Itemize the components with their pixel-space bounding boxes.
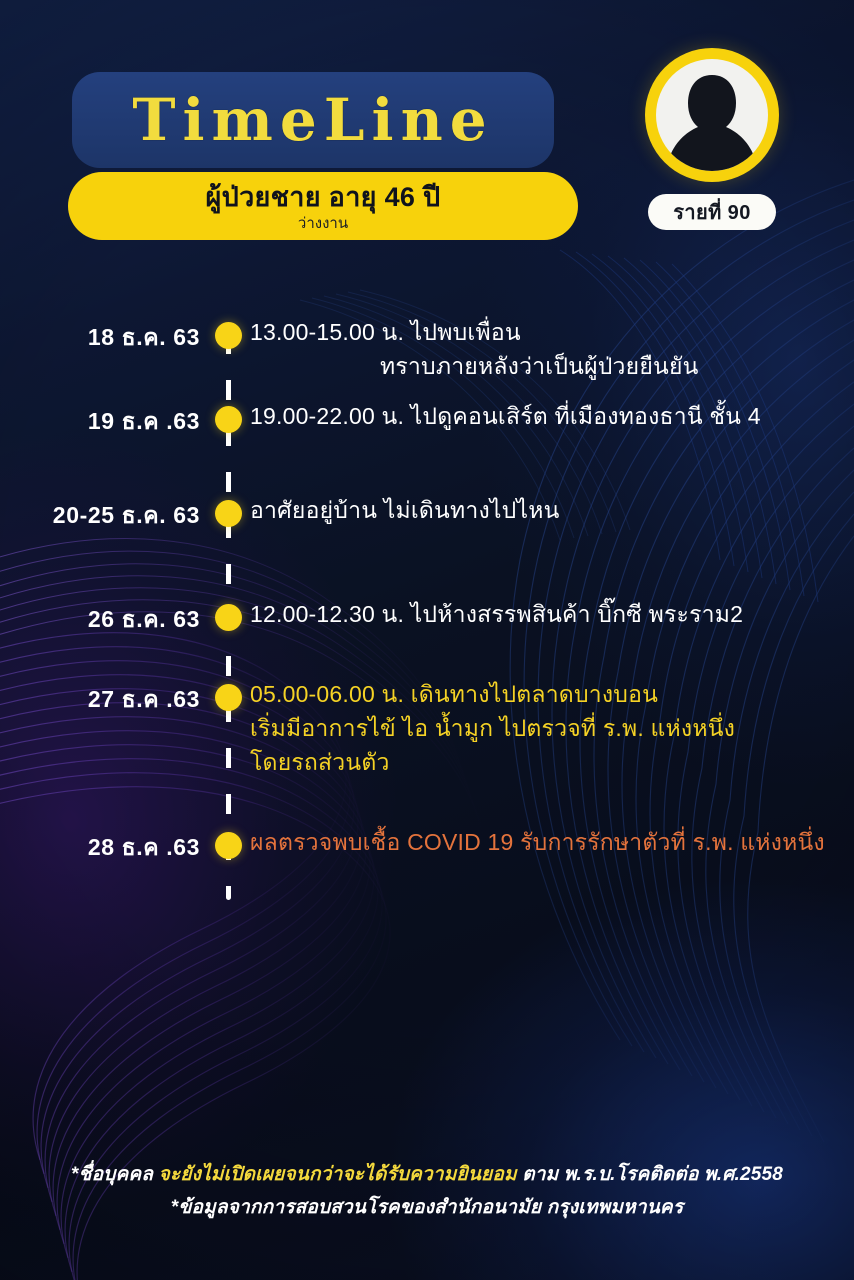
timeline-dot bbox=[215, 832, 242, 859]
timeline-dot bbox=[215, 500, 242, 527]
timeline-dot bbox=[215, 684, 242, 711]
timeline-entry-line: ทราบภายหลังว่าเป็นผู้ป่วยยืนยัน bbox=[250, 349, 850, 383]
timeline-dot bbox=[215, 322, 242, 349]
timeline-entry-date: 26 ธ.ค. 63 bbox=[0, 602, 200, 638]
case-number-text: รายที่ 90 bbox=[673, 196, 750, 228]
timeline-entry-line: เริ่มมีอาการไข้ ไอ น้ำมูก ไปตรวจที่ ร.พ.… bbox=[250, 711, 850, 745]
avatar bbox=[645, 48, 779, 182]
title-pill: TimeLine bbox=[72, 72, 554, 168]
timeline-entry-line: 12.00-12.30 น. ไปห้างสรรพสินค้า บิ๊กซี พ… bbox=[250, 597, 850, 631]
subject-primary-text: ผู้ป่วยชาย อายุ 46 ปี bbox=[206, 184, 441, 211]
timeline-entry-body: ผลตรวจพบเชื้อ COVID 19 รับการรักษาตัวที่… bbox=[250, 825, 850, 859]
timeline-entry-date: 20-25 ธ.ค. 63 bbox=[0, 498, 200, 534]
footer-line-1: *ชื่อบุคคล จะยังไม่เปิดเผยจนกว่าจะได้รับ… bbox=[0, 1158, 854, 1191]
timeline-entry-line: อาศัยอยู่บ้าน ไม่เดินทางไปไหน bbox=[250, 493, 850, 527]
timeline-entry-date: 28 ธ.ค .63 bbox=[0, 830, 200, 866]
person-silhouette-icon bbox=[656, 59, 768, 171]
page-title: TimeLine bbox=[132, 86, 493, 154]
footer-line-2: *ข้อมูลจากการสอบสวนโรคของสำนักอนามัย กรุ… bbox=[0, 1191, 854, 1224]
timeline-entry-line: 13.00-15.00 น. ไปพบเพื่อน bbox=[250, 315, 850, 349]
timeline-entry-date: 27 ธ.ค .63 bbox=[0, 682, 200, 718]
timeline-entry-body: 13.00-15.00 น. ไปพบเพื่อนทราบภายหลังว่าเ… bbox=[250, 315, 850, 383]
timeline-entry-line: โดยรถส่วนตัว bbox=[250, 745, 850, 779]
avatar-block: รายที่ 90 bbox=[642, 48, 782, 230]
timeline-entry-line: 05.00-06.00 น. เดินทางไปตลาดบางบอน bbox=[250, 677, 850, 711]
timeline-entry-line: ผลตรวจพบเชื้อ COVID 19 รับการรักษาตัวที่… bbox=[250, 825, 850, 859]
timeline-dot bbox=[215, 604, 242, 631]
timeline-entry-body: 19.00-22.00 น. ไปดูคอนเสิร์ต ที่เมืองทอง… bbox=[250, 399, 850, 433]
timeline-entry-body: 12.00-12.30 น. ไปห้างสรรพสินค้า บิ๊กซี พ… bbox=[250, 597, 850, 631]
timeline-entry-body: 05.00-06.00 น. เดินทางไปตลาดบางบอนเริ่มม… bbox=[250, 677, 850, 779]
timeline-entry-line: 19.00-22.00 น. ไปดูคอนเสิร์ต ที่เมืองทอง… bbox=[250, 399, 850, 433]
footer: *ชื่อบุคคล จะยังไม่เปิดเผยจนกว่าจะได้รับ… bbox=[0, 1158, 854, 1224]
footer-line1-part1: *ชื่อบุคคล bbox=[71, 1164, 159, 1185]
subject-secondary-text: ว่างงาน bbox=[298, 216, 348, 231]
timeline-entry-body: อาศัยอยู่บ้าน ไม่เดินทางไปไหน bbox=[250, 493, 850, 527]
subject-pill: ผู้ป่วยชาย อายุ 46 ปี ว่างงาน bbox=[68, 172, 578, 240]
timeline-entry-date: 19 ธ.ค .63 bbox=[0, 404, 200, 440]
footer-line1-part3: ตาม พ.ร.บ.โรคติดต่อ พ.ศ.2558 bbox=[517, 1164, 783, 1185]
timeline-entry-date: 18 ธ.ค. 63 bbox=[0, 320, 200, 356]
footer-line1-part2: จะยังไม่เปิดเผยจนกว่าจะได้รับความยินยอม bbox=[159, 1164, 517, 1185]
timeline-dot bbox=[215, 406, 242, 433]
case-number-badge: รายที่ 90 bbox=[648, 194, 776, 230]
avatar-inner-circle bbox=[656, 59, 768, 171]
